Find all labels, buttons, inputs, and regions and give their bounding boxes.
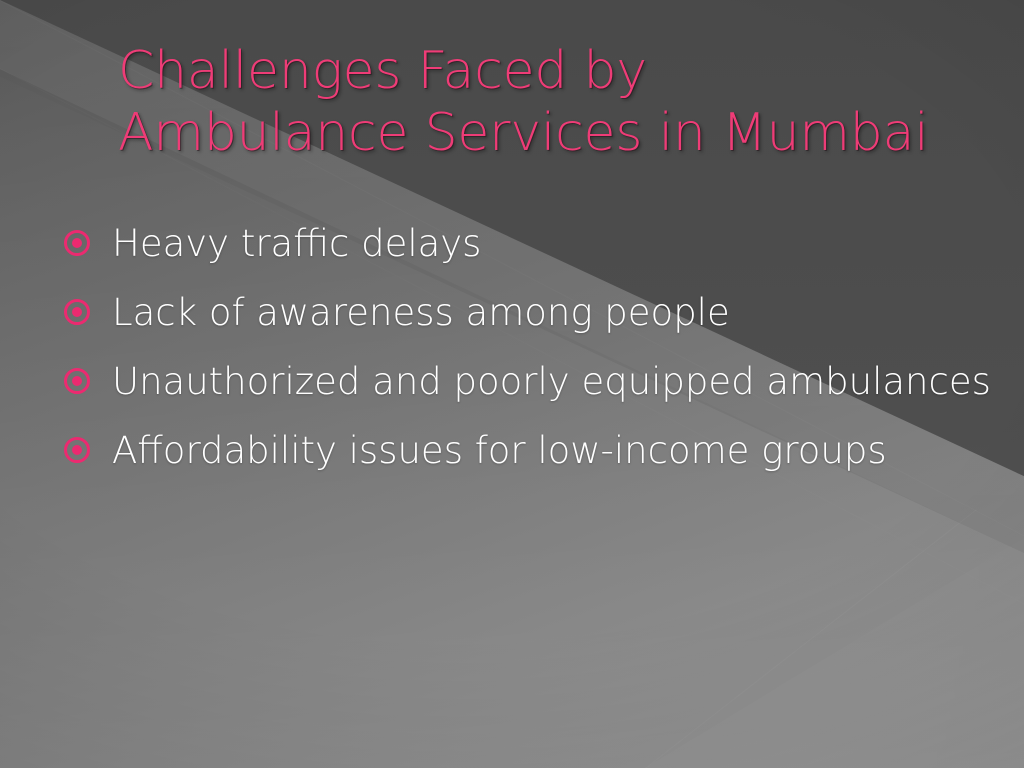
slide-title-line-1: Challenges Faced by [118, 40, 978, 102]
list-item-label: Heavy traffic delays [112, 216, 994, 271]
list-item-label: Lack of awareness among people [112, 285, 994, 340]
slide-title: Challenges Faced by Ambulance Services i… [118, 40, 978, 164]
slide-title-line-2: Ambulance Services in Mumbai [118, 102, 978, 164]
bullet-target-icon [64, 437, 90, 463]
list-item: Unauthorized and poorly equipped ambulan… [64, 354, 994, 409]
bullet-target-icon [64, 368, 90, 394]
list-item: Heavy traffic delays [64, 216, 994, 271]
list-item: Lack of awareness among people [64, 285, 994, 340]
list-item-label: Affordability issues for low-income grou… [112, 423, 994, 478]
list-item-label: Unauthorized and poorly equipped ambulan… [112, 354, 994, 409]
slide-body-list: Heavy traffic delays Lack of awareness a… [64, 216, 994, 492]
bullet-target-icon [64, 230, 90, 256]
list-item: Affordability issues for low-income grou… [64, 423, 994, 478]
presentation-slide: Challenges Faced by Ambulance Services i… [0, 0, 1024, 768]
bullet-target-icon [64, 299, 90, 325]
